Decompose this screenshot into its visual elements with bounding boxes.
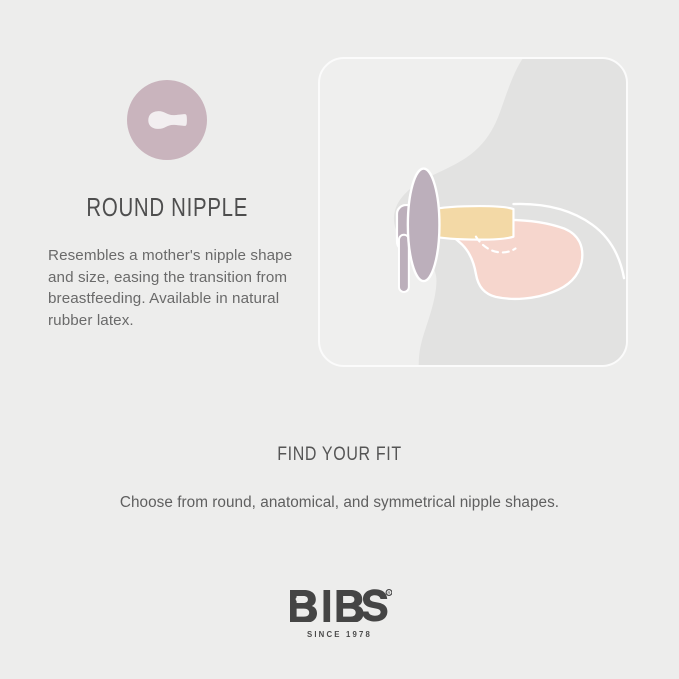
round-nipple-icon [127, 80, 207, 160]
brand-logo: R SINCE 1978 [0, 588, 679, 639]
feature-title: ROUND NIPPLE [48, 194, 246, 223]
find-your-fit-subtitle: Choose from round, anatomical, and symme… [0, 494, 679, 512]
find-your-fit-title: FIND YOUR FIT [61, 443, 618, 466]
product-feature-page: ROUND NIPPLE Resembles a mother's nipple… [0, 0, 679, 679]
find-your-fit-block: FIND YOUR FIT Choose from round, anatomi… [0, 443, 679, 512]
svg-text:R: R [387, 590, 390, 595]
feature-column: ROUND NIPPLE Resembles a mother's nipple… [48, 80, 296, 331]
pacifier-shield [397, 169, 439, 292]
heart-icon [295, 597, 302, 603]
illustration-panel [318, 57, 628, 367]
brand-tagline: SINCE 1978 [17, 630, 662, 639]
bibs-wordmark: R [288, 588, 392, 622]
feature-description: Resembles a mother's nipple shape and si… [48, 245, 293, 331]
